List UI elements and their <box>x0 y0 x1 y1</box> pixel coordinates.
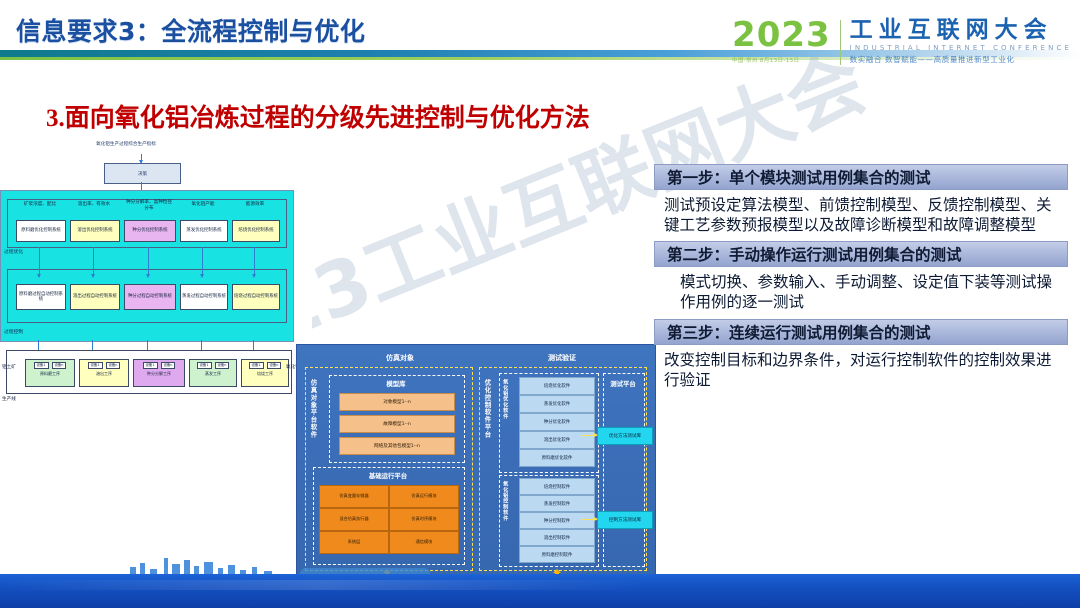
section-heading-text: 面向氧化铝冶炼过程的分级先进控制与优化方法 <box>65 103 590 132</box>
flow-device-label: 设备1 <box>143 362 158 369</box>
arch-ctrl-item: 焙烧控制软件 <box>519 478 595 495</box>
arch-ctrl-item: 溶出控制软件 <box>519 529 595 546</box>
flow-column-caption: 矿浆浓度、配比 <box>16 202 64 208</box>
flow-connector <box>39 247 40 277</box>
flow-unit-devices: 设备1 设备n <box>143 362 176 369</box>
arch-base-module: 仿真变量存储器 <box>319 485 389 508</box>
step-block: 第三步：连续运行测试用例集合的测试 改变控制目标和边界条件，对运行控制软件的控制… <box>654 319 1068 396</box>
flow-band-label-production: 生产线 <box>2 396 16 402</box>
flow-unit-devices: 设备1 设备n <box>88 362 121 369</box>
flow-process-unit: 设备1 设备n 种分分解工序 <box>133 359 185 387</box>
arch-test-lib: 优化方法测试库 <box>597 427 653 445</box>
sea-graphic <box>0 574 1080 608</box>
flow-device-label: 设备n <box>267 362 282 369</box>
flow-process-unit: 设备1 设备n 溶出工序 <box>79 359 129 387</box>
arch-arrow-ctrl-to-test <box>581 519 597 520</box>
arch-opt-item: 种分优化软件 <box>519 413 595 431</box>
step-body: 测试预设定算法模型、前馈控制模型、反馈控制模型、关键工艺参数预报模型以及故障诊断… <box>654 190 1068 241</box>
bottom-city-band <box>0 558 1080 608</box>
arch-opt-group-label: 氧化铝优化软件 <box>502 379 507 465</box>
arch-model-item: 故障模型1--n <box>339 415 455 433</box>
arch-model-item: 网络及其他包模型1--n <box>339 437 455 455</box>
step-block: 第一步：单个模块测试用例集合的测试 测试预设定算法模型、前馈控制模型、反馈控制模… <box>654 164 1068 241</box>
page-title: 信息要求3：全流程控制与优化 <box>16 12 365 48</box>
arch-model-item: 对象模型1--n <box>339 393 455 411</box>
flow-process-unit: 设备1 设备n 焙烧工序 <box>241 359 289 387</box>
section-heading: 3.面向氧化铝冶炼过程的分级先进控制与优化方法 <box>46 98 590 134</box>
flow-unit-name: 溶出工序 <box>96 371 112 377</box>
flow-device-label: 设备n <box>52 362 67 369</box>
step-title: 第三步：连续运行测试用例集合的测试 <box>654 319 1068 345</box>
step-body: 改变控制目标和边界条件，对运行控制软件的控制效果进行验证 <box>654 345 1068 396</box>
arch-base-module: 仿真运行模块 <box>389 485 459 508</box>
flow-opt-module: 溶出优化控制系统 <box>70 220 120 242</box>
arch-model-lib-title: 模型库 <box>329 379 463 388</box>
arch-opt-item: 溶出优化软件 <box>519 431 595 449</box>
flow-connector <box>202 247 203 277</box>
logo-name-cn: 工业互联网大会 <box>850 18 1072 42</box>
flow-connector <box>93 247 94 277</box>
flow-column-caption: 溶出率、有效水 <box>70 202 118 208</box>
logo-name-block: 工业互联网大会 INDUSTRIAL INTERNET CONFERENCE 数… <box>850 18 1072 65</box>
flow-opt-module: 种分优化控制系统 <box>124 220 176 242</box>
steps-panel: 第一步：单个模块测试用例集合的测试 测试预设定算法模型、前馈控制模型、反馈控制模… <box>654 164 1068 396</box>
logo-year: 2023 <box>732 18 831 52</box>
flow-unit-name: 焙烧工序 <box>257 371 273 377</box>
flow-band-label-optimization: 过程优化 <box>4 248 23 255</box>
flow-connector <box>148 247 149 277</box>
arch-right-title: 测试验证 <box>487 353 637 363</box>
arch-base-module: 系统层 <box>319 531 389 554</box>
flow-unit-name: 蒸发工序 <box>205 371 221 377</box>
flow-column-caption: 能源效率 <box>232 202 278 208</box>
flow-band-label-control: 过程控制 <box>4 328 23 335</box>
logo-year-subtitle: 中国·常州 8月13日-15日 <box>732 56 831 64</box>
flow-ctrl-module: 焙烧过程自动控制系统 <box>232 284 280 310</box>
step-title: 第一步：单个模块测试用例集合的测试 <box>654 164 1068 190</box>
section-number: 3. <box>46 105 65 132</box>
flow-arrow-top <box>141 154 142 163</box>
arch-arrow-opt-to-test <box>581 435 597 436</box>
step-block: 第二步：手动操作运行测试用例集合的测试 模式切换、参数输入、手动调整、设定值下装… <box>654 241 1068 318</box>
flow-process-unit: 设备1 设备n 原料磨工序 <box>25 359 75 387</box>
flow-unit-name: 种分分解工序 <box>147 371 171 377</box>
flow-device-label: 设备1 <box>34 362 49 369</box>
flow-production-row: 设备1 设备n 原料磨工序 设备1 设备n 溶出工序 设备1 设备n 种分分解工… <box>6 350 292 394</box>
logo-slogan: 数实融合 数智赋能——高质量推进新型工业化 <box>850 54 1072 65</box>
arch-left-title: 仿真对象 <box>325 353 475 363</box>
arch-ctrl-item: 种分控制软件 <box>519 512 595 529</box>
arch-ctrl-item: 蒸发控制软件 <box>519 495 595 512</box>
flow-optimization-layer: 矿浆浓度、配比 溶出率、有效水 种分分解率、晶种粒径分布 氧化铝产能 能源效率 … <box>7 199 287 248</box>
flow-cyan-area: 过程优化 过程控制 矿浆浓度、配比 溶出率、有效水 种分分解率、晶种粒径分布 氧… <box>0 190 294 342</box>
flow-connector <box>254 247 255 277</box>
process-flow-diagram: 氧化铝生产过程综合生产指标 决策 过程优化 过程控制 矿浆浓度、配比 溶出率、有… <box>0 142 312 414</box>
arch-test-lib: 控制方法测试库 <box>597 511 653 529</box>
arch-opt-item: 蒸发优化软件 <box>519 395 595 413</box>
flow-top-label: 氧化铝生产过程综合生产指标 <box>84 142 168 148</box>
arch-base-module: 通信模块 <box>389 531 459 554</box>
flow-unit-devices: 设备1 设备n <box>197 362 230 369</box>
flow-unit-name: 原料磨工序 <box>40 371 60 377</box>
flow-decision-box: 决策 <box>104 163 181 184</box>
flow-unit-devices: 设备1 设备n <box>249 362 282 369</box>
flow-column-caption: 氧化铝产能 <box>180 202 226 208</box>
arch-opt-item: 原料磨优化软件 <box>519 449 595 467</box>
arch-test-platform-title: 测试平台 <box>597 379 649 388</box>
flow-process-unit: 设备1 设备n 蒸发工序 <box>189 359 237 387</box>
flow-column-caption: 种分分解率、晶种粒径分布 <box>124 200 174 212</box>
arch-base-platform-title: 基础运行平台 <box>313 471 463 480</box>
logo-divider <box>840 20 841 65</box>
flow-input-label: 铝土矿 <box>2 364 16 370</box>
arch-base-module: 混合仿真执行器 <box>319 508 389 531</box>
flow-device-label: 设备1 <box>197 362 212 369</box>
flow-ctrl-module: 蒸发过程自动控制系统 <box>180 284 228 310</box>
flow-ctrl-module: 原料磨过程自动控制系统 <box>16 284 66 310</box>
flow-unit-devices: 设备1 设备n <box>34 362 67 369</box>
flow-ctrl-module: 种分过程自动控制系统 <box>124 284 176 310</box>
flow-device-label: 设备n <box>106 362 121 369</box>
step-title: 第二步：手动操作运行测试用例集合的测试 <box>654 241 1068 267</box>
flow-device-label: 设备1 <box>88 362 103 369</box>
flow-device-label: 设备1 <box>249 362 264 369</box>
arch-base-module: 仿真时序模块 <box>389 508 459 531</box>
flow-opt-module: 原料磨优化控制系统 <box>16 220 66 242</box>
conference-logo: 2023 中国·常州 8月13日-15日 工业互联网大会 INDUSTRIAL … <box>732 18 1072 65</box>
flow-device-label: 设备n <box>161 362 176 369</box>
flow-ctrl-module: 溶出过程自动控制系统 <box>70 284 120 310</box>
flow-opt-module: 蒸发优化控制系统 <box>180 220 228 242</box>
arch-test-platform-group <box>603 373 645 567</box>
flow-opt-module: 焙烧优化控制系统 <box>232 220 280 242</box>
arch-opt-platform-label: 优化控制软件平台 <box>484 379 490 557</box>
arch-ctrl-group-label: 氧化铝控制软件 <box>502 481 507 559</box>
flow-device-label: 设备n <box>215 362 230 369</box>
logo-name-en: INDUSTRIAL INTERNET CONFERENCE <box>850 44 1072 52</box>
step-body: 模式切换、参数输入、手动调整、设定值下装等测试操作用例的逐一测试 <box>654 267 1068 318</box>
logo-year-block: 2023 中国·常州 8月13日-15日 <box>732 18 831 64</box>
arch-opt-item: 焙烧优化软件 <box>519 377 595 395</box>
